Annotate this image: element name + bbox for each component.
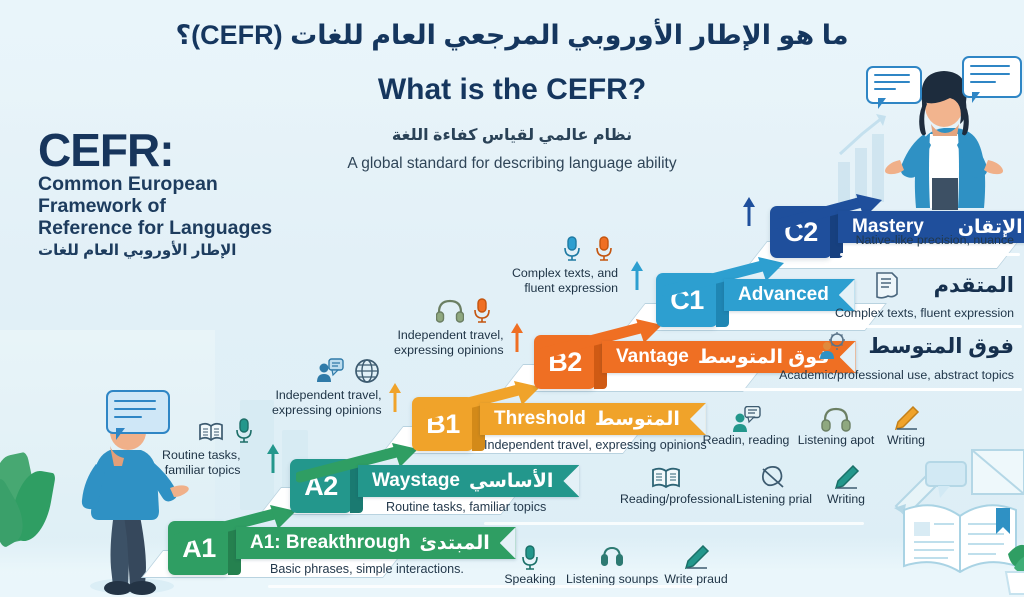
b2-side-name-ar: فوق المتوسط (868, 334, 1014, 359)
step-b2-name-ar: فوق المتوسط (698, 346, 830, 369)
skill-b1-1: Readin, reading (700, 406, 792, 447)
brand-block: CEFR: Common European Framework of Refer… (38, 128, 338, 259)
c2-side-desc: Native-like precision, nuance (856, 233, 1014, 247)
document-icon (872, 270, 900, 300)
person-gear-icon (818, 331, 848, 361)
callout-a2-line1: Independent travel, (272, 388, 382, 403)
globe-icon (354, 358, 380, 384)
brand-line-2: Framework of (38, 195, 338, 217)
skill-b1-3-label: Writing (860, 433, 952, 447)
brand-line-1: Common European (38, 173, 338, 195)
step-c1-name-en: Advanced (738, 284, 829, 306)
step-a2-desc: Routine tasks, familiar topics (386, 500, 546, 514)
microphone-icon (234, 418, 254, 444)
skill-a2-3: Writing (800, 465, 892, 506)
pen-icon (682, 545, 710, 571)
callout-b1-line1: Independent travel, (394, 328, 504, 343)
skill-a1-1-label: Speaking (484, 572, 576, 586)
speech-bubble-right (962, 56, 1022, 98)
step-b2-name-en: Vantage (616, 346, 689, 368)
microphone-icon (519, 545, 541, 571)
brand-line-3: Reference for Languages (38, 217, 338, 239)
step-a1-banner[interactable]: A1: Breakthrough المبتدئ (236, 527, 516, 559)
c1-side-name-ar: المتقدم (934, 273, 1014, 298)
headphones-icon (436, 299, 464, 323)
skill-a1-3: Write praud (650, 545, 742, 586)
step-b1-desc: Independent travel, expressing opinions (484, 438, 707, 452)
up-arrow-icon (266, 443, 280, 473)
microphone-icon (472, 298, 492, 324)
speech-bubble-left (866, 66, 922, 104)
step-a1-name-ar: المبتدئ (419, 532, 489, 555)
up-arrow-icon (742, 196, 756, 226)
person-chat-icon (316, 358, 344, 384)
skill-a2-1-label: Reading/professional (620, 492, 712, 506)
step-a2-name-ar: الأساسي (469, 470, 553, 493)
pencil-icon (892, 406, 920, 432)
step-a2-banner[interactable]: Waystage الأساسي (358, 465, 579, 497)
step-a1-name-en: A1: Breakthrough (250, 532, 410, 554)
skill-b1-1-label: Readin, reading (700, 433, 792, 447)
microphone-icon (562, 236, 582, 262)
skill-a1-2: Listening sounps (566, 545, 658, 586)
step-b1-name-ar: المتوسط (595, 408, 680, 431)
headphones-icon (597, 545, 627, 571)
infographic-canvas: ما هو الإطار الأوروبي المرجعي العام للغا… (0, 0, 1024, 597)
skill-a2-3-label: Writing (800, 492, 892, 506)
step-b1-name-en: Threshold (494, 408, 586, 430)
up-arrow-icon (630, 260, 644, 290)
c1-side-desc: Complex texts, fluent expression (835, 306, 1014, 320)
headphones-icon (821, 406, 851, 432)
brand-acronym: CEFR: (38, 128, 338, 173)
up-arrow-icon (388, 382, 402, 412)
step-a1-desc: Basic phrases, simple interactions. (270, 562, 464, 576)
pen-icon (832, 465, 860, 491)
person-chat-icon (731, 406, 761, 432)
open-book-icon (651, 465, 681, 491)
step-a2-name-en: Waystage (372, 470, 460, 492)
open-book-icon (198, 419, 224, 445)
microphone-icon (594, 236, 614, 262)
skill-a1-1: Speaking (484, 545, 576, 586)
skill-a2-1: Reading/professional (620, 465, 712, 506)
callout-a1-line1: Routine tasks, (162, 448, 241, 463)
callout-c1-line1: Complex texts, and (458, 266, 618, 281)
callout-b1-line2: expressing opinions (394, 343, 504, 358)
b2-side-desc: Academic/professional use, abstract topi… (779, 368, 1014, 382)
callout-c1-line2: fluent expression (458, 281, 618, 296)
listening-icon (759, 465, 789, 491)
up-arrow-icon (510, 322, 524, 352)
brand-line-arabic: الإطار الأوروبي العام للغات (38, 241, 338, 259)
skill-a1-2-label: Listening sounps (566, 572, 658, 586)
step-b1-banner[interactable]: Threshold المتوسط (480, 403, 706, 435)
skill-b1-3: Writing (860, 406, 952, 447)
skill-a1-3-label: Write praud (650, 572, 742, 586)
callout-a2-line2: expressing opinions (272, 403, 382, 418)
callout-a1-line2: familiar topics (162, 463, 241, 478)
